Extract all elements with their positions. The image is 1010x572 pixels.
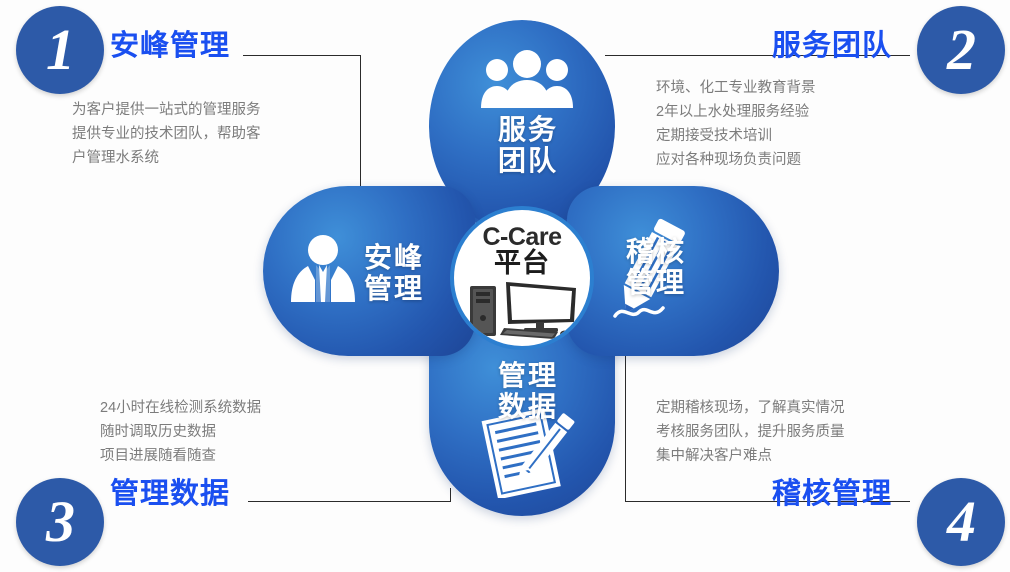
section-heading-2: 服务团队 — [772, 22, 892, 64]
three-people-group-icon — [477, 50, 577, 108]
petal-label-audit-manage: 稽核 管理 — [611, 236, 701, 298]
infographic-canvas: 1 2 3 4 安峰管理 服务团队 管理数据 稽核管理 为客户提供一站式的管理服… — [0, 0, 1010, 572]
section-body-3-line-1: 24小时在线检测系统数据 — [100, 396, 261, 420]
petal-label-service-team: 服务 团队 — [483, 114, 573, 176]
petal-label-manage-data-line2: 数据 — [483, 391, 573, 422]
petal-label-service-team-line1: 服务 — [483, 114, 573, 145]
section-number-3: 3 — [46, 493, 74, 551]
section-number-1: 1 — [46, 21, 74, 79]
section-number-badge-4: 4 — [917, 478, 1005, 566]
petal-label-anfeng-manage-line1: 安峰 — [349, 242, 439, 273]
section-number-badge-2: 2 — [917, 6, 1005, 94]
section-heading-1: 安峰管理 — [110, 22, 230, 64]
petal-label-audit-manage-line2: 管理 — [611, 267, 701, 298]
section-body-1-line-2: 提供专业的技术团队，帮助客 — [72, 122, 261, 146]
center-hub-c-care-platform[interactable]: C-Care 平台 — [450, 206, 594, 350]
section-body-3-line-2: 随时调取历史数据 — [100, 420, 261, 444]
section-number-4: 4 — [947, 493, 975, 551]
desktop-computer-icon — [466, 278, 578, 345]
section-body-1-line-1: 为客户提供一站式的管理服务 — [72, 98, 261, 122]
section-number-badge-1: 1 — [16, 6, 104, 94]
section-number-badge-3: 3 — [16, 478, 104, 566]
petal-label-manage-data-line1: 管理 — [483, 360, 573, 391]
center-hub-subtitle: 平台 — [494, 250, 550, 277]
petal-label-manage-data: 管理 数据 — [483, 360, 573, 422]
center-hub-title: C-Care — [483, 224, 562, 250]
section-body-1: 为客户提供一站式的管理服务 提供专业的技术团队，帮助客 户管理水系统 — [72, 98, 261, 170]
section-body-1-line-3: 户管理水系统 — [72, 146, 261, 170]
petal-label-audit-manage-line1: 稽核 — [611, 236, 701, 267]
section-body-3-line-3: 项目进展随看随查 — [100, 444, 261, 468]
section-number-2: 2 — [947, 21, 975, 79]
section-body-3: 24小时在线检测系统数据 随时调取历史数据 项目进展随看随查 — [100, 396, 261, 468]
section-heading-4: 稽核管理 — [772, 470, 892, 512]
business-person-icon — [289, 232, 357, 306]
section-heading-3: 管理数据 — [110, 470, 230, 512]
petal-label-anfeng-manage-line2: 管理 — [349, 273, 439, 304]
petal-label-service-team-line2: 团队 — [483, 145, 573, 176]
four-petal-diagram: 服务 团队 稽核 管理 管理 数据 安峰 管理 C-Care 平台 — [255, 8, 785, 528]
petal-label-anfeng-manage: 安峰 管理 — [349, 242, 439, 304]
